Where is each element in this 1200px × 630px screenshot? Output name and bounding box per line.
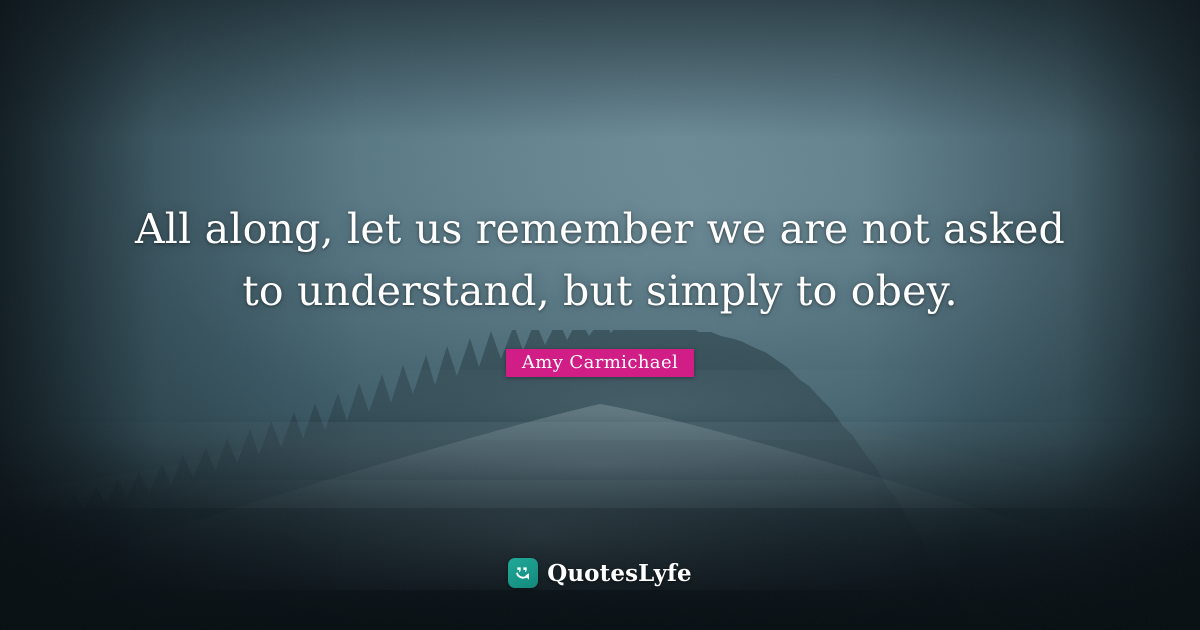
quoteslyfe-logo-icon [508,558,538,588]
quote-card: All along, let us remember we are not as… [0,0,1200,630]
card-content: All along, let us remember we are not as… [0,0,1200,630]
author-badge[interactable]: Amy Carmichael [506,349,694,377]
brand-logo[interactable]: QuotesLyfe [0,558,1200,588]
quote-block: All along, let us remember we are not as… [0,198,1200,322]
quote-text: All along, let us remember we are not as… [70,198,1130,322]
author-row: Amy Carmichael [0,349,1200,377]
brand-name: QuotesLyfe [547,560,692,587]
